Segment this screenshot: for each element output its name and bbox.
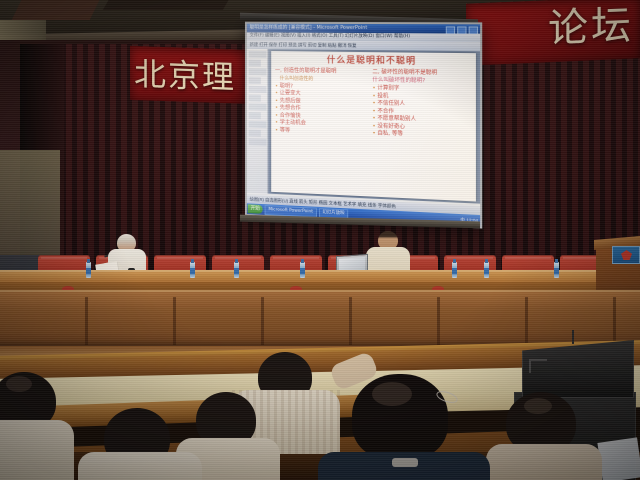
outline-row[interactable] xyxy=(249,86,267,93)
ceiling-panel xyxy=(103,0,233,10)
podium-emblem xyxy=(612,246,640,264)
outline-row[interactable] xyxy=(249,121,267,128)
audience-body xyxy=(78,452,202,480)
outline-row[interactable] xyxy=(249,60,261,67)
outline-row[interactable] xyxy=(249,95,261,102)
stage-panel-seams xyxy=(0,297,640,345)
current-slide[interactable]: 什么是聪明和不聪明 一, 创造性的聪明才是聪明 什么叫创造性的 聪明? 让要变大… xyxy=(271,51,476,201)
hair-highlight xyxy=(372,382,412,406)
water-bottle xyxy=(452,262,457,278)
audience-body xyxy=(486,444,602,480)
water-bottle xyxy=(190,262,195,278)
projected-image: 聪明是怎样练成的 [兼容模式] - Microsoft PowerPoint 文… xyxy=(247,24,480,227)
powerpoint-workspace: 什么是聪明和不聪明 一, 创造性的聪明才是聪明 什么叫创造性的 聪明? 让要变大… xyxy=(247,49,480,204)
lecture-hall-photo: 北京理 论坛 聪明是怎样练成的 [兼容模式] - Microsoft Power… xyxy=(0,0,640,480)
water-bottle xyxy=(484,262,489,278)
slide-bullet: 自私, 等等 xyxy=(372,130,471,141)
outline-row[interactable] xyxy=(249,103,267,110)
banner-right-text: 论坛 xyxy=(470,0,640,60)
outline-row[interactable] xyxy=(249,68,267,75)
close-icon[interactable] xyxy=(469,26,478,34)
slide-body: 一, 创造性的聪明才是聪明 什么叫创造性的 聪明? 让要变大 先想后做 先想合作… xyxy=(271,66,476,142)
water-bottle xyxy=(300,262,305,278)
hair-clip xyxy=(392,458,418,467)
water-bottle xyxy=(554,262,559,278)
slide-column-right: 二, 破坏性的聪明不是聪明 什么叫破坏性的聪明? 计算别字 投机 不信任别人 不… xyxy=(372,69,471,141)
banner-left-text: 北京理 xyxy=(134,52,254,100)
water-bottle xyxy=(86,262,91,278)
outline-row[interactable] xyxy=(249,130,261,137)
outline-row[interactable] xyxy=(249,138,267,145)
speaker-rod xyxy=(572,330,574,344)
audience-body xyxy=(0,420,74,480)
hair-highlight xyxy=(524,398,552,414)
powerpoint-title-text: 聪明是怎样练成的 [兼容模式] - Microsoft PowerPoint xyxy=(250,25,368,31)
slide-bullet: 等等 xyxy=(275,127,369,137)
case-corner xyxy=(529,359,547,373)
projection-screen: 聪明是怎样练成的 [兼容模式] - Microsoft PowerPoint 文… xyxy=(245,22,482,229)
maximize-icon[interactable] xyxy=(457,26,466,34)
water-bottle xyxy=(234,262,239,278)
slide-outline-pane[interactable] xyxy=(247,49,269,194)
outline-row[interactable] xyxy=(249,51,267,58)
ceiling-panel xyxy=(12,0,103,20)
slide-column-left: 一, 创造性的聪明才是聪明 什么叫创造性的 聪明? 让要变大 先想后做 先想合作… xyxy=(275,68,369,138)
hair-highlight xyxy=(6,376,32,392)
start-button[interactable]: 开始 xyxy=(248,204,263,214)
outline-row[interactable] xyxy=(249,77,261,84)
emblem-mark-icon xyxy=(621,250,632,260)
window-controls[interactable] xyxy=(446,26,478,34)
outline-row[interactable] xyxy=(249,112,261,119)
cloth xyxy=(597,437,640,480)
